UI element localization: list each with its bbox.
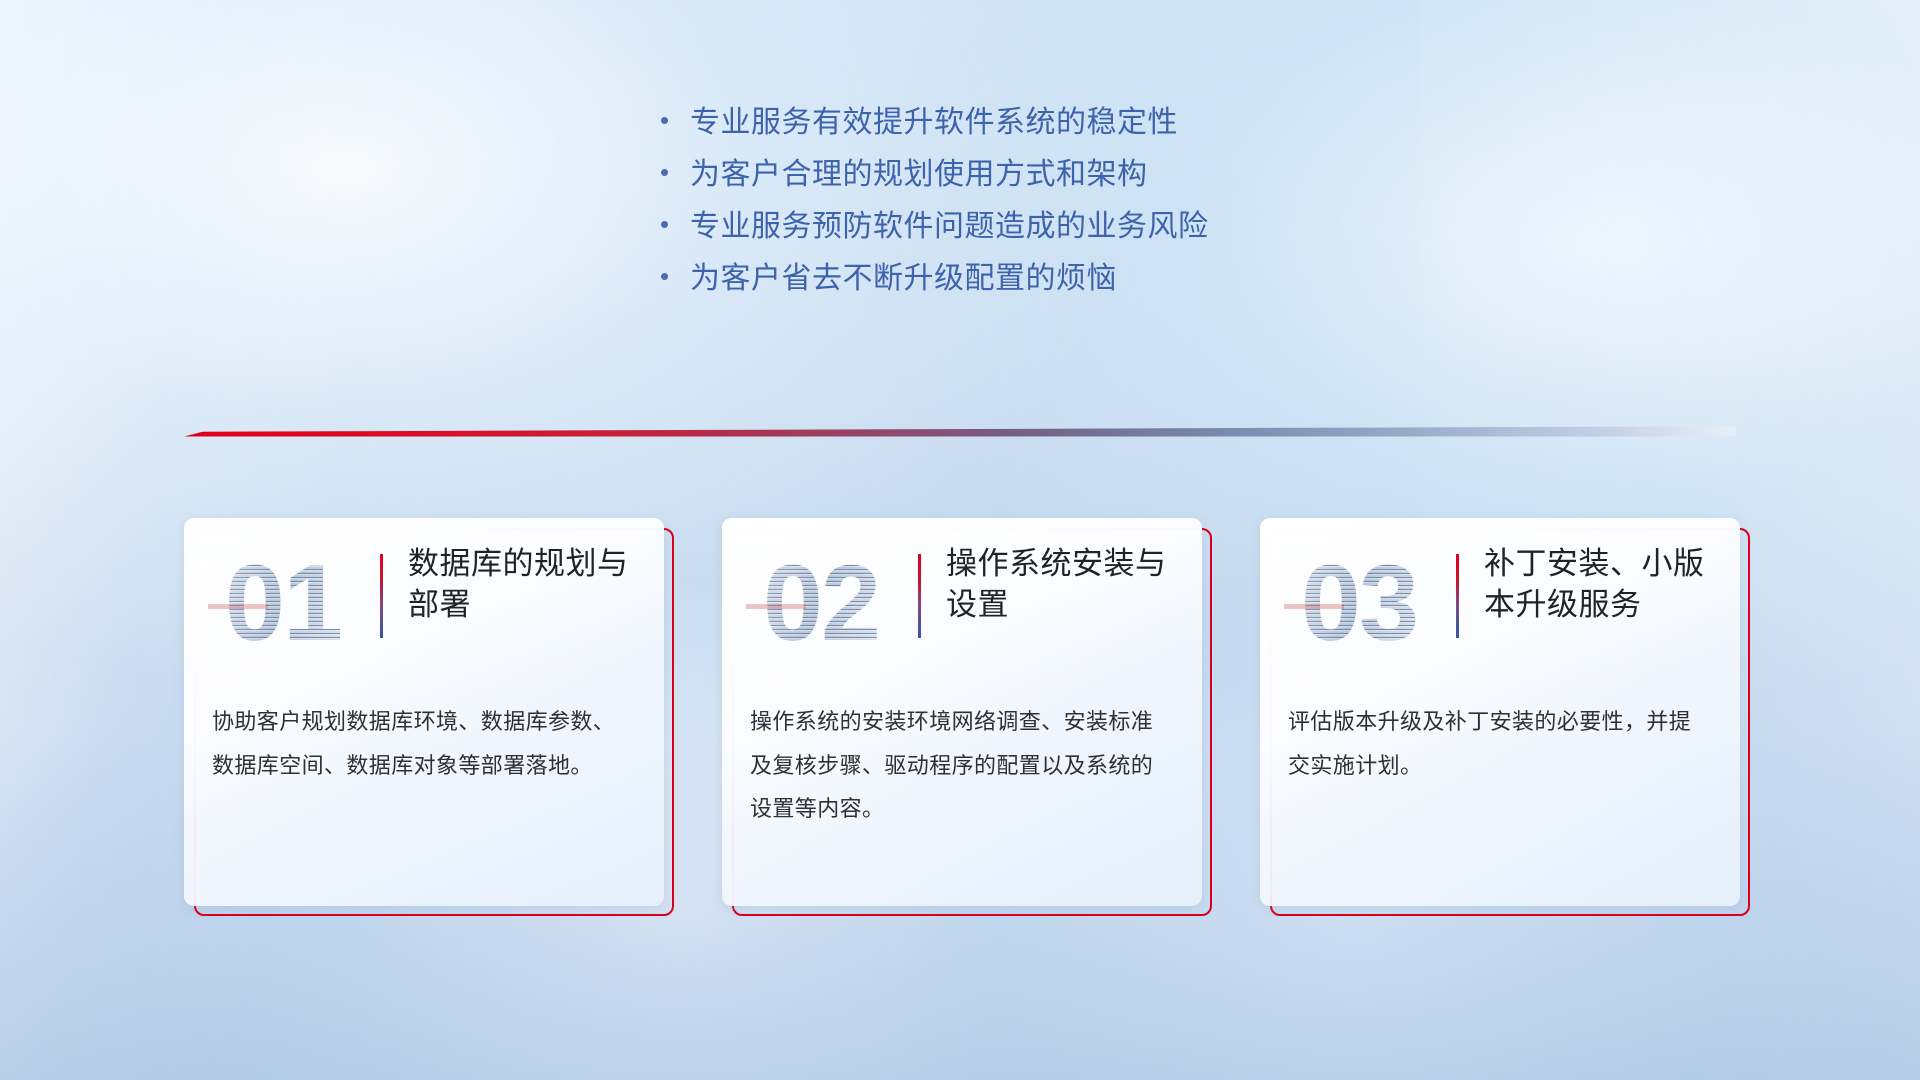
bullet-text: 为客户合理的规划使用方式和架构 [690, 160, 1148, 190]
service-card-03[interactable]: 03 补丁安装、小版本升级服务 评估版本升级及补丁安装的必要性，并提交实施计划。 [1260, 518, 1740, 910]
bullet-dot-icon: • [660, 107, 690, 133]
card-surface: 03 补丁安装、小版本升级服务 评估版本升级及补丁安装的必要性，并提交实施计划。 [1260, 518, 1740, 906]
list-item: • 为客户省去不断升级配置的烦恼 [660, 264, 1400, 294]
benefits-bullet-list: • 专业服务有效提升软件系统的稳定性 • 为客户合理的规划使用方式和架构 • 专… [660, 108, 1400, 316]
card-number: 02 [746, 544, 896, 662]
card-accent-bar [918, 554, 921, 638]
service-card-02[interactable]: 02 操作系统安装与设置 操作系统的安装环境网络调查、安装标准及复核步骤、驱动程… [722, 518, 1202, 910]
bullet-dot-icon: • [660, 211, 690, 237]
divider-wedge-shape [184, 425, 1736, 441]
card-description: 协助客户规划数据库环境、数据库参数、数据库空间、数据库对象等部署落地。 [212, 700, 636, 787]
bullet-text: 为客户省去不断升级配置的烦恼 [690, 264, 1117, 294]
bullet-dot-icon: • [660, 263, 690, 289]
bullet-text: 专业服务有效提升软件系统的稳定性 [690, 108, 1178, 138]
card-header: 02 操作系统安装与设置 [722, 518, 1202, 668]
card-header: 01 数据库的规划与部署 [184, 518, 664, 668]
service-card-list: 01 数据库的规划与部署 协助客户规划数据库环境、数据库参数、数据库空间、数据库… [184, 518, 1740, 910]
card-number: 01 [208, 544, 358, 662]
card-title: 操作系统安装与设置 [946, 544, 1182, 626]
section-divider [184, 425, 1736, 441]
list-item: • 为客户合理的规划使用方式和架构 [660, 160, 1400, 190]
card-title: 数据库的规划与部署 [408, 544, 644, 626]
card-number: 03 [1284, 544, 1434, 662]
card-surface: 02 操作系统安装与设置 操作系统的安装环境网络调查、安装标准及复核步骤、驱动程… [722, 518, 1202, 906]
list-item: • 专业服务预防软件问题造成的业务风险 [660, 212, 1400, 242]
card-header: 03 补丁安装、小版本升级服务 [1260, 518, 1740, 668]
card-title: 补丁安装、小版本升级服务 [1484, 544, 1720, 626]
list-item: • 专业服务有效提升软件系统的稳定性 [660, 108, 1400, 138]
card-description: 评估版本升级及补丁安装的必要性，并提交实施计划。 [1288, 700, 1712, 787]
card-surface: 01 数据库的规划与部署 协助客户规划数据库环境、数据库参数、数据库空间、数据库… [184, 518, 664, 906]
bullet-dot-icon: • [660, 159, 690, 185]
bullet-text: 专业服务预防软件问题造成的业务风险 [690, 212, 1209, 242]
card-description: 操作系统的安装环境网络调查、安装标准及复核步骤、驱动程序的配置以及系统的设置等内… [750, 700, 1174, 831]
service-card-01[interactable]: 01 数据库的规划与部署 协助客户规划数据库环境、数据库参数、数据库空间、数据库… [184, 518, 664, 910]
card-accent-bar [1456, 554, 1459, 638]
card-accent-bar [380, 554, 383, 638]
